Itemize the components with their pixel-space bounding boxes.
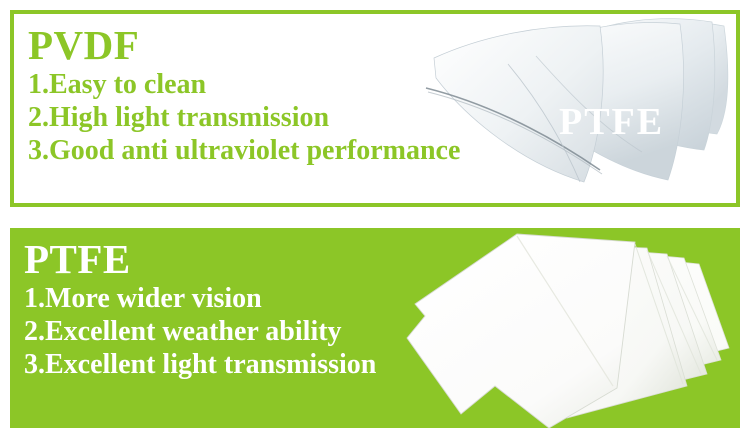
list-item: 3.Good anti ultraviolet performance	[28, 134, 460, 167]
pvdf-feature-list: 1.Easy to clean 2.High light transmissio…	[28, 68, 460, 167]
pvdf-text-block: PVDF 1.Easy to clean 2.High light transm…	[28, 22, 460, 167]
ptfe-heading: PTFE	[24, 236, 376, 282]
product-feature-banner: PTFE PVDF 1.Easy to clean 2.High light t…	[0, 0, 750, 441]
ptfe-feature-list: 1.More wider vision 2.Excellent weather …	[24, 282, 376, 381]
list-item: 1.More wider vision	[24, 282, 376, 315]
panel-ptfe: PTFE PTFE 1.More wider vision 2.Excellen…	[10, 228, 740, 428]
ptfe-text-block: PTFE 1.More wider vision 2.Excellent wea…	[24, 236, 376, 381]
list-item: 1.Easy to clean	[28, 68, 460, 101]
panel-pvdf: PTFE PVDF 1.Easy to clean 2.High light t…	[10, 10, 740, 207]
white-sheets-image	[399, 228, 740, 428]
list-item: 2.High light transmission	[28, 101, 460, 134]
list-item: 2.Excellent weather ability	[24, 315, 376, 348]
ptfe-overlay-label-top: PTFE	[559, 100, 664, 144]
pvdf-heading: PVDF	[28, 22, 460, 68]
list-item: 3.Excellent light transmission	[24, 348, 376, 381]
